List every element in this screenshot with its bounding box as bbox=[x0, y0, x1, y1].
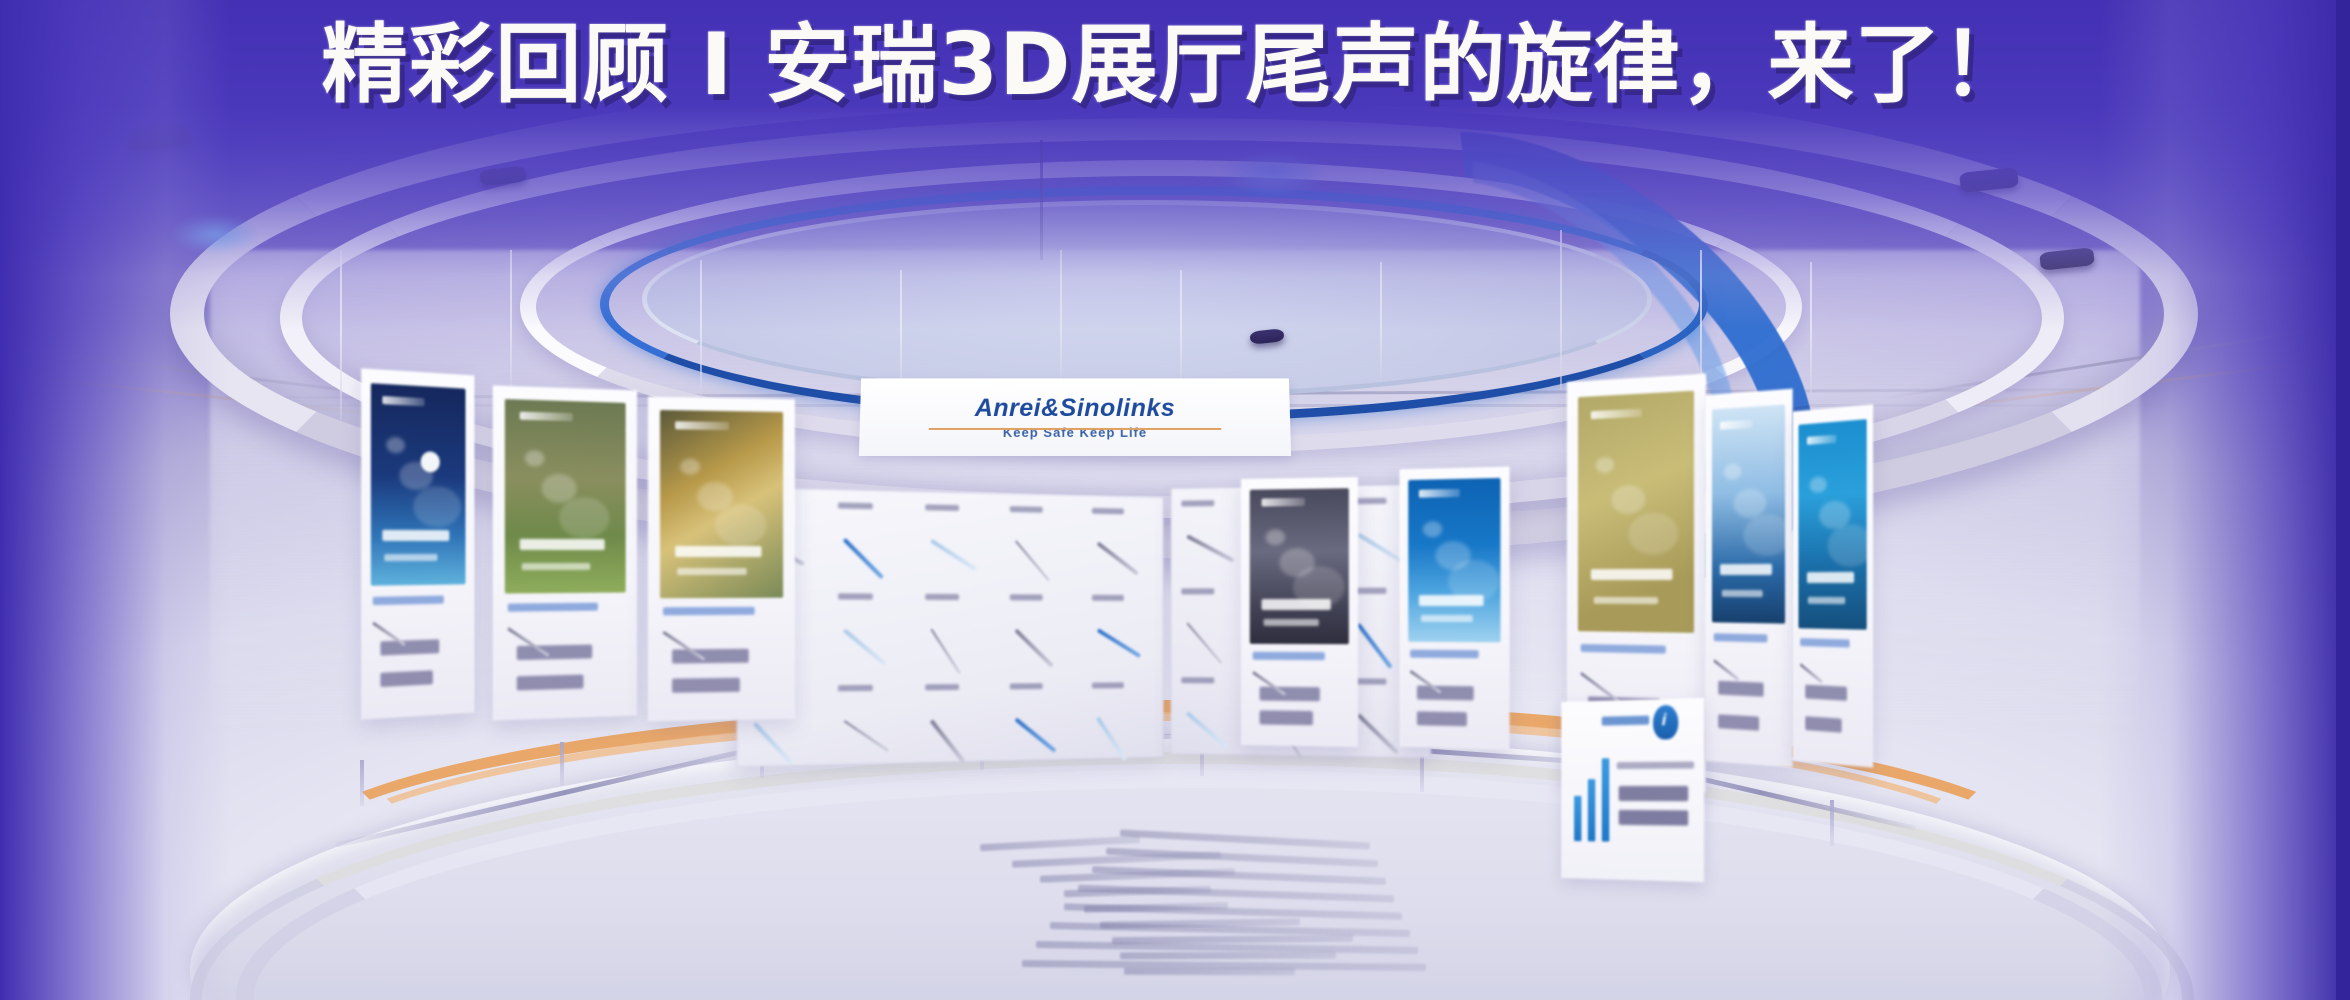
panel-body-text bbox=[380, 671, 433, 688]
poster-subject-shape bbox=[386, 436, 405, 453]
poster-subject-shape bbox=[413, 485, 461, 527]
purple-edge-right bbox=[2336, 0, 2350, 1000]
poster-heading-line bbox=[675, 545, 761, 556]
exhibit-panel-badger[interactable] bbox=[1241, 477, 1358, 747]
poster-subject-shape bbox=[1828, 524, 1866, 567]
railing-post bbox=[360, 760, 364, 806]
medical-device-display-board bbox=[736, 487, 1163, 768]
brand-underline bbox=[929, 428, 1222, 430]
panel-body-text bbox=[380, 640, 439, 656]
panel-body-text bbox=[672, 678, 740, 693]
poster-subject-shape bbox=[1423, 522, 1442, 538]
floor-caption-line bbox=[1120, 952, 1336, 960]
device-cell bbox=[925, 683, 996, 757]
poster-subject-shape bbox=[680, 459, 700, 475]
poster-heading-line bbox=[1262, 599, 1331, 610]
poster-heading-line bbox=[1807, 572, 1854, 583]
device-illustration bbox=[1014, 717, 1056, 752]
device-label bbox=[1092, 682, 1124, 688]
poster-image-fish bbox=[660, 410, 783, 598]
device-illustration bbox=[1015, 540, 1050, 581]
panel-body-text bbox=[1805, 684, 1847, 700]
device-label bbox=[1092, 508, 1124, 515]
poster-brand-mark bbox=[519, 411, 573, 421]
poster-subject-shape bbox=[1733, 488, 1766, 518]
poster-subject-shape bbox=[400, 461, 433, 491]
device-cell bbox=[838, 684, 911, 760]
poster-subheading-line bbox=[1722, 590, 1763, 597]
poster-brand-mark bbox=[1262, 498, 1305, 507]
device-illustration bbox=[1097, 541, 1139, 575]
device-illustration bbox=[843, 629, 887, 667]
device-illustration bbox=[1014, 629, 1054, 668]
device-cell bbox=[1010, 682, 1079, 755]
panel-device-illustration bbox=[1713, 659, 1739, 680]
poster-subject-shape bbox=[1266, 529, 1286, 545]
railing-post bbox=[560, 742, 564, 786]
device-illustration bbox=[844, 720, 890, 752]
device-cell bbox=[925, 504, 996, 578]
device-label bbox=[925, 594, 959, 600]
device-label bbox=[1092, 595, 1124, 601]
device-label bbox=[838, 502, 873, 509]
railing-post bbox=[1830, 800, 1834, 846]
bar-chart bbox=[1574, 750, 1609, 841]
stat-headline-top bbox=[1619, 786, 1688, 801]
brand-logo-text bbox=[1602, 716, 1649, 726]
device-label bbox=[838, 594, 873, 600]
device-cell bbox=[1092, 682, 1159, 754]
device-label bbox=[1181, 589, 1214, 595]
poster-brand-mark bbox=[1720, 420, 1752, 430]
device-cell bbox=[1010, 595, 1079, 668]
poster-subheading-line bbox=[1421, 615, 1473, 622]
panel-body-text bbox=[1719, 681, 1764, 697]
panel-caption-heading bbox=[1713, 633, 1767, 642]
poster-image-bird bbox=[1578, 391, 1695, 633]
bar-chart-stat-panel bbox=[1561, 698, 1704, 882]
stat-subtitle bbox=[1617, 761, 1694, 769]
device-illustration bbox=[1186, 623, 1222, 664]
panel-body-text bbox=[672, 649, 749, 664]
device-label bbox=[1010, 595, 1043, 601]
exhibit-panel-fish[interactable] bbox=[648, 397, 795, 722]
poster-subheading-line bbox=[1264, 618, 1319, 625]
poster-subheading-line bbox=[384, 554, 438, 561]
poster-subject-shape bbox=[1612, 484, 1646, 514]
device-label bbox=[838, 685, 873, 691]
purple-vignette-right bbox=[2100, 0, 2350, 1000]
poster-image-whale bbox=[1408, 478, 1500, 642]
poster-brand-mark bbox=[1419, 489, 1459, 498]
poster-heading-line bbox=[382, 530, 449, 541]
poster-heading-line bbox=[1720, 564, 1771, 575]
panel-body-text bbox=[1805, 716, 1842, 733]
device-illustration bbox=[1186, 711, 1229, 749]
poster-image-panda bbox=[371, 383, 466, 586]
exhibit-panel-ocean[interactable] bbox=[1793, 404, 1873, 767]
bar-1 bbox=[1574, 796, 1581, 841]
panel-body-text bbox=[1417, 686, 1474, 701]
device-label bbox=[1181, 500, 1214, 506]
panel-caption-heading bbox=[1800, 639, 1850, 648]
device-illustration bbox=[1357, 623, 1393, 669]
poster-brand-mark bbox=[1591, 408, 1642, 419]
device-label bbox=[925, 504, 959, 511]
poster-subject-shape bbox=[1723, 463, 1741, 480]
panel-caption-heading bbox=[508, 602, 598, 611]
poster-subheading-line bbox=[677, 568, 746, 575]
device-label bbox=[1010, 506, 1043, 513]
poster-subject-shape bbox=[559, 497, 609, 539]
page-title: 精彩回顾 I 安瑞3D展厅尾声的旋律，来了！ bbox=[0, 22, 2350, 108]
poster-subject-shape bbox=[524, 450, 544, 466]
poster-subject-shape bbox=[1628, 512, 1678, 555]
bar-3 bbox=[1602, 758, 1609, 841]
poster-heading-line bbox=[1591, 569, 1672, 580]
stat-headline-bottom bbox=[1619, 810, 1688, 826]
poster-image-eagle bbox=[1712, 404, 1786, 623]
poster-heading-line bbox=[1419, 595, 1484, 606]
panel-caption-heading bbox=[1410, 650, 1478, 659]
device-label bbox=[1181, 677, 1214, 683]
panel-caption-heading bbox=[1580, 644, 1665, 654]
poster-subheading-line bbox=[522, 563, 590, 570]
device-illustration bbox=[1096, 716, 1127, 761]
bar-2 bbox=[1588, 779, 1595, 841]
poster-subject-shape bbox=[1596, 457, 1615, 474]
exhibit-panel-panda[interactable] bbox=[361, 368, 474, 719]
device-illustration bbox=[1357, 533, 1405, 565]
panel-caption-heading bbox=[663, 607, 754, 616]
device-cell bbox=[1010, 506, 1079, 579]
brand-name: Anrei&Sinolinks bbox=[975, 394, 1176, 423]
device-illustration bbox=[930, 539, 977, 571]
device-label bbox=[1010, 683, 1043, 689]
device-cell bbox=[1092, 508, 1159, 580]
panel-body-text bbox=[1259, 687, 1320, 702]
poster-brand-mark bbox=[1807, 434, 1836, 444]
poster-subject-shape bbox=[1809, 476, 1826, 493]
exhibition-hall-screenshot: Anrei&Sinolinks Keep Safe Keep Life 精彩回顾… bbox=[0, 0, 2350, 1000]
panel-body-text bbox=[516, 675, 583, 691]
brand-i-logo-icon bbox=[1653, 705, 1678, 740]
panel-body-text bbox=[1719, 714, 1759, 730]
poster-heading-line bbox=[519, 539, 604, 550]
panel-body-text bbox=[1417, 711, 1467, 726]
poster-subject-shape bbox=[715, 504, 766, 546]
panel-device-illustration bbox=[1800, 663, 1824, 684]
device-label bbox=[925, 684, 959, 690]
poster-image-kangaroo bbox=[505, 399, 626, 593]
device-illustration bbox=[753, 721, 794, 764]
poster-brand-mark bbox=[675, 421, 730, 430]
poster-subject-shape bbox=[1744, 514, 1786, 557]
device-cell bbox=[1092, 595, 1159, 667]
brand-banner: Anrei&Sinolinks Keep Safe Keep Life bbox=[859, 378, 1291, 456]
poster-subheading-line bbox=[1808, 597, 1846, 604]
device-cell bbox=[925, 594, 996, 668]
device-illustration bbox=[843, 538, 884, 580]
poster-image-ocean bbox=[1799, 419, 1867, 629]
panel-body-text bbox=[1259, 711, 1313, 726]
exhibit-panel-kangaroo[interactable] bbox=[493, 385, 637, 720]
device-illustration bbox=[930, 719, 966, 763]
device-cell bbox=[838, 594, 911, 669]
panel-caption-heading bbox=[373, 595, 444, 604]
device-illustration bbox=[1097, 629, 1142, 659]
exhibit-panel-whale[interactable] bbox=[1400, 467, 1510, 750]
device-illustration bbox=[1357, 713, 1399, 754]
device-illustration bbox=[1186, 534, 1234, 562]
exhibit-panel-eagle[interactable] bbox=[1705, 389, 1793, 768]
poster-brand-mark bbox=[382, 396, 424, 406]
purple-vignette-left bbox=[0, 0, 230, 1000]
panel-caption-heading bbox=[1253, 652, 1325, 660]
poster-image-badger bbox=[1250, 488, 1348, 644]
poster-subheading-line bbox=[1594, 596, 1659, 603]
device-illustration bbox=[930, 629, 960, 675]
panel-body-text bbox=[516, 645, 591, 661]
device-cell bbox=[838, 502, 911, 578]
